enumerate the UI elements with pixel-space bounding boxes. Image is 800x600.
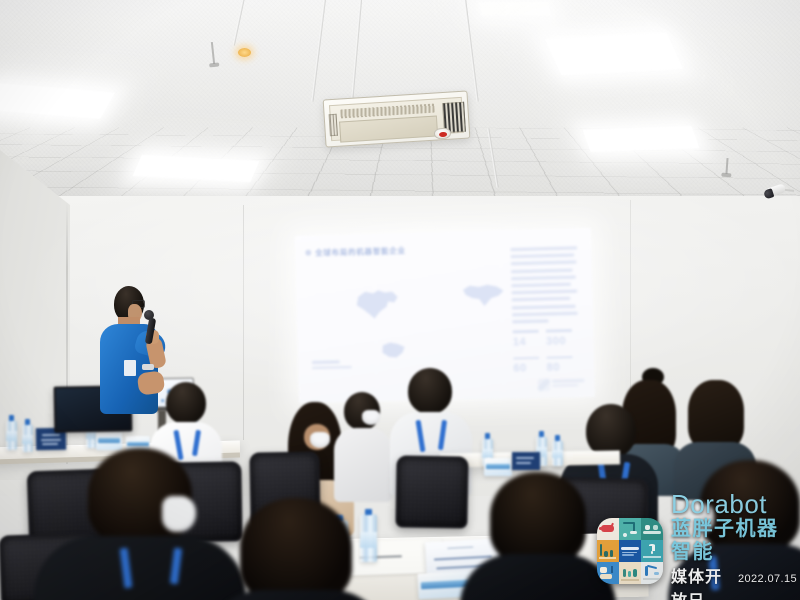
ac-side-vent-left bbox=[329, 114, 338, 136]
water-bottle bbox=[22, 424, 33, 452]
water-bottle bbox=[6, 420, 17, 450]
slide-stat-2: 60 bbox=[513, 356, 547, 374]
audience-torso bbox=[34, 536, 246, 600]
wristwatch bbox=[142, 364, 154, 370]
audience-torso bbox=[206, 590, 388, 600]
tile-teal-gantry bbox=[619, 518, 641, 540]
ceiling-light-panel-3 bbox=[545, 33, 683, 75]
audience-member bbox=[40, 448, 240, 600]
face-mask bbox=[310, 432, 330, 448]
audience-member bbox=[216, 498, 376, 600]
tile-orange-sorter bbox=[597, 540, 619, 562]
face-mask bbox=[162, 496, 196, 532]
slide-stat-0: 14 bbox=[513, 330, 547, 348]
conference-photo: 全球布局的机器智能企业 14 300 bbox=[0, 0, 800, 600]
audience-head bbox=[166, 382, 206, 424]
slide-stat-3-value: 80 bbox=[547, 361, 581, 374]
water-bottle bbox=[552, 440, 563, 466]
slide-body-text bbox=[511, 246, 579, 327]
slide-logo-text bbox=[552, 379, 585, 389]
slide-title: 全球布局的机器智能企业 bbox=[315, 245, 406, 258]
map-australia bbox=[379, 341, 407, 362]
ceiling-light-panel-4 bbox=[583, 126, 700, 152]
slide-stat-1: 300 bbox=[546, 329, 580, 347]
tile-navy-wordmark bbox=[619, 540, 641, 562]
tile-green-conveyor bbox=[641, 518, 663, 540]
event-watermark: Dorabot 蓝胖子机器智能 媒体开放日 2022.07.15 bbox=[597, 508, 797, 594]
slide-stats: 14 300 60 80 bbox=[513, 329, 585, 384]
audience-head bbox=[408, 368, 452, 414]
map-china bbox=[354, 289, 398, 320]
ceiling-cassette-air-conditioner bbox=[323, 90, 471, 147]
audience-member bbox=[336, 392, 390, 502]
slide-title-bullet-icon bbox=[305, 250, 311, 256]
slide-logo-icon bbox=[538, 378, 550, 390]
office-chair[interactable] bbox=[395, 455, 468, 528]
tile-cream-bin bbox=[619, 562, 641, 584]
event-date: 2022.07.15 bbox=[738, 573, 797, 585]
watermark-text: Dorabot 蓝胖子机器智能 媒体开放日 2022.07.15 bbox=[671, 491, 797, 600]
amber-indicator-lamp bbox=[238, 48, 251, 57]
audience-head bbox=[490, 472, 586, 564]
event-name-cn: 媒体开放日 bbox=[671, 563, 734, 600]
audience-torso bbox=[460, 554, 616, 600]
tile-blue-depalletize bbox=[597, 562, 619, 584]
slide-stat-3: 80 bbox=[546, 355, 580, 373]
map-usa bbox=[461, 282, 504, 307]
brand-name-en: Dorabot bbox=[671, 491, 797, 517]
event-line: 媒体开放日 2022.07.15 bbox=[671, 563, 797, 600]
dorabot-slide-watermark bbox=[538, 377, 585, 391]
slide-stat-2-value: 60 bbox=[513, 362, 547, 375]
table-tent-card bbox=[512, 452, 540, 470]
face-mask bbox=[362, 410, 380, 425]
audience-head bbox=[240, 498, 352, 600]
audience-torso bbox=[334, 428, 392, 502]
tile-red-robot-arm bbox=[597, 518, 619, 540]
tile-white-arm bbox=[641, 562, 663, 584]
dorabot-logo bbox=[597, 518, 663, 584]
slide-legend bbox=[312, 360, 352, 372]
presenter-badge bbox=[124, 360, 136, 376]
audience-hair bbox=[688, 380, 744, 450]
audience-member bbox=[472, 472, 602, 600]
slide-stat-1-value: 300 bbox=[546, 334, 580, 347]
tile-teal-question bbox=[641, 540, 663, 562]
slide-stat-0-value: 14 bbox=[513, 335, 547, 348]
ceiling-light-panel-5 bbox=[479, 2, 551, 16]
brand-name-cn: 蓝胖子机器智能 bbox=[671, 517, 797, 563]
